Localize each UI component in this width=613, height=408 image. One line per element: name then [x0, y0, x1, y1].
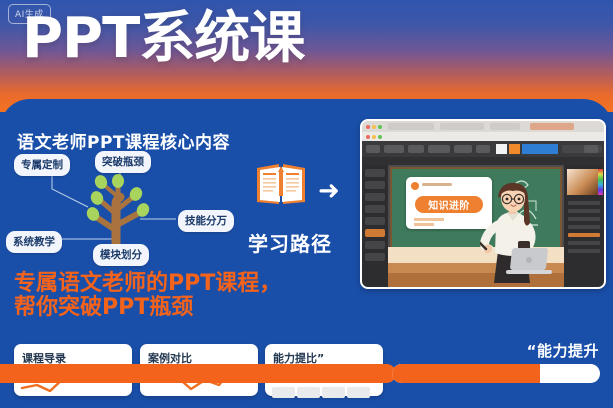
maximize-icon	[378, 125, 382, 129]
arrow-right-icon: ➜	[318, 178, 340, 204]
ai-generated-badge: AI生成	[8, 4, 51, 24]
slogan-block: 专属语文老师的PPT课程， 帮你突破PPT瓶颈	[14, 272, 281, 320]
tree-label-xtjx: 系统教学	[6, 231, 62, 253]
hue-slider	[598, 169, 603, 195]
nav-dot-icon	[378, 135, 382, 139]
tree-label-mkhf: 模块划分	[93, 244, 149, 266]
slide-logo-text	[422, 183, 452, 186]
tree-label-tpjp: 突破瓶颈	[95, 151, 151, 173]
nav-dot-icon	[372, 135, 376, 139]
color-picker-field	[567, 169, 601, 195]
slogan-line-1: 专属语文老师的PPT课程，	[14, 272, 281, 296]
color-swatch-white	[496, 144, 507, 154]
laptop-icon	[506, 248, 550, 274]
ability-progress-label: “能力提升	[527, 340, 599, 361]
window-titlebar	[362, 121, 604, 132]
learning-path-label: 学习路径	[248, 228, 332, 257]
slide-badge: 知识进阶	[415, 196, 483, 213]
slogan-line-2: 帮你突破PPT瓶颈	[14, 296, 281, 320]
window-tab-active	[530, 123, 574, 130]
tree-label-zsdz: 专属定制	[14, 154, 70, 176]
nav-dot-icon	[366, 135, 370, 139]
poster-root: AI生成 PPT系统课 语文老师PPT课程核心内容	[0, 0, 613, 408]
close-icon	[366, 125, 370, 129]
editor-properties-panel	[564, 165, 604, 287]
open-book-icon	[253, 158, 309, 210]
ppt-editor-screenshot: 知识进阶	[360, 119, 606, 289]
editor-tools-panel	[362, 165, 388, 287]
progress-bar-fill	[392, 364, 540, 383]
slide-logo-icon	[411, 182, 419, 190]
tree-label-jnfw: 技能分万	[178, 210, 234, 232]
progress-bar-extension	[0, 364, 396, 383]
progress-bar-track[interactable]	[392, 364, 600, 383]
window-tab	[440, 123, 484, 130]
window-tab	[490, 123, 520, 130]
window-tab	[388, 123, 434, 130]
page-title: PPT系统课	[22, 8, 304, 70]
browser-toolbar	[362, 132, 604, 141]
color-swatch-orange	[509, 144, 520, 154]
core-content-tree: 专属定制 突破瓶颈 技能分万 系统教学 模块划分	[0, 145, 245, 265]
editor-canvas: 知识进阶	[388, 165, 564, 287]
editor-options-bar	[362, 157, 604, 165]
minimize-icon	[372, 125, 376, 129]
color-swatch-blue	[522, 144, 558, 154]
